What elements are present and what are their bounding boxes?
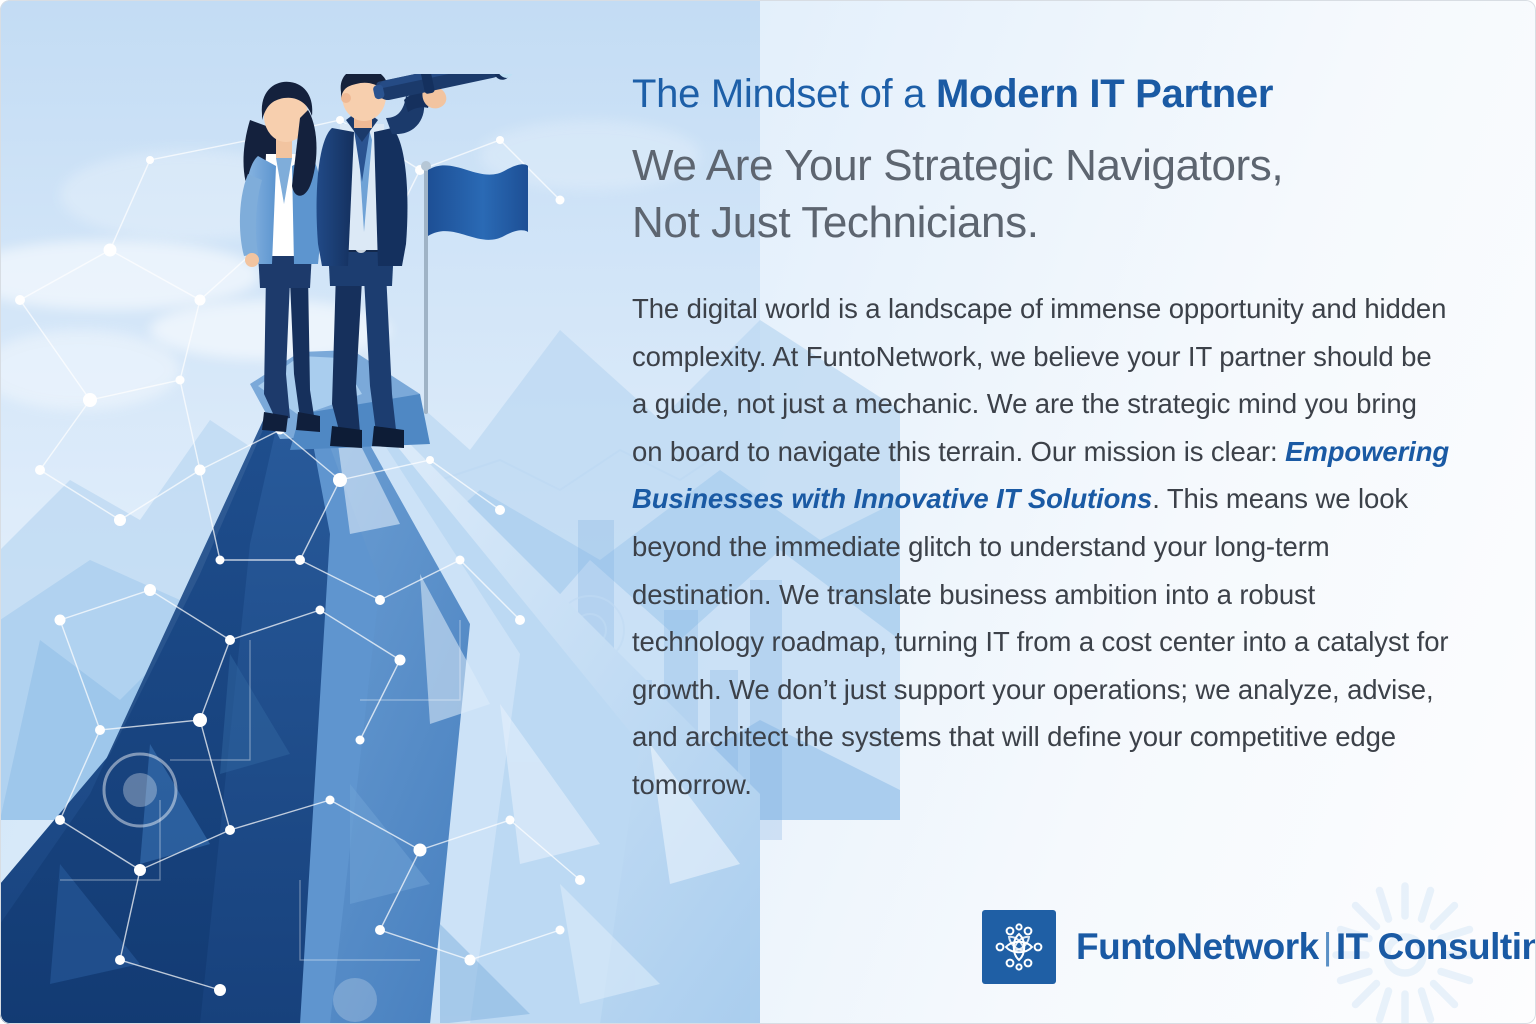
content-column: The Mindset of a Modern IT Partner We Ar… [632, 72, 1454, 808]
headline-line-2: Not Just Technicians. [632, 198, 1039, 247]
brand-name: FuntoNetwork [1076, 926, 1319, 967]
brand-name-text: FuntoNetwork|IT Consulting [1076, 926, 1536, 968]
eyebrow-strong-text: Modern IT Partner [936, 72, 1273, 116]
business-people-illustration [228, 74, 558, 464]
page-title: We Are Your Strategic Navigators,Not Jus… [632, 137, 1454, 251]
eyebrow-heading: The Mindset of a Modern IT Partner [632, 72, 1454, 117]
headline-line-1: We Are Your Strategic Navigators, [632, 141, 1283, 190]
brand-tagline: IT Consulting [1336, 926, 1536, 967]
eyebrow-regular-text: The Mindset of a [632, 72, 936, 116]
promo-card: The Mindset of a Modern IT Partner We Ar… [0, 0, 1536, 1024]
brand-divider: | [1319, 926, 1336, 967]
body-text-part-2: . This means we look beyond the immediat… [632, 483, 1448, 799]
network-nodes-icon [982, 910, 1056, 984]
body-paragraph: The digital world is a landscape of imme… [632, 285, 1454, 808]
brand-logo-lockup[interactable]: FuntoNetwork|IT Consulting [982, 910, 1536, 984]
